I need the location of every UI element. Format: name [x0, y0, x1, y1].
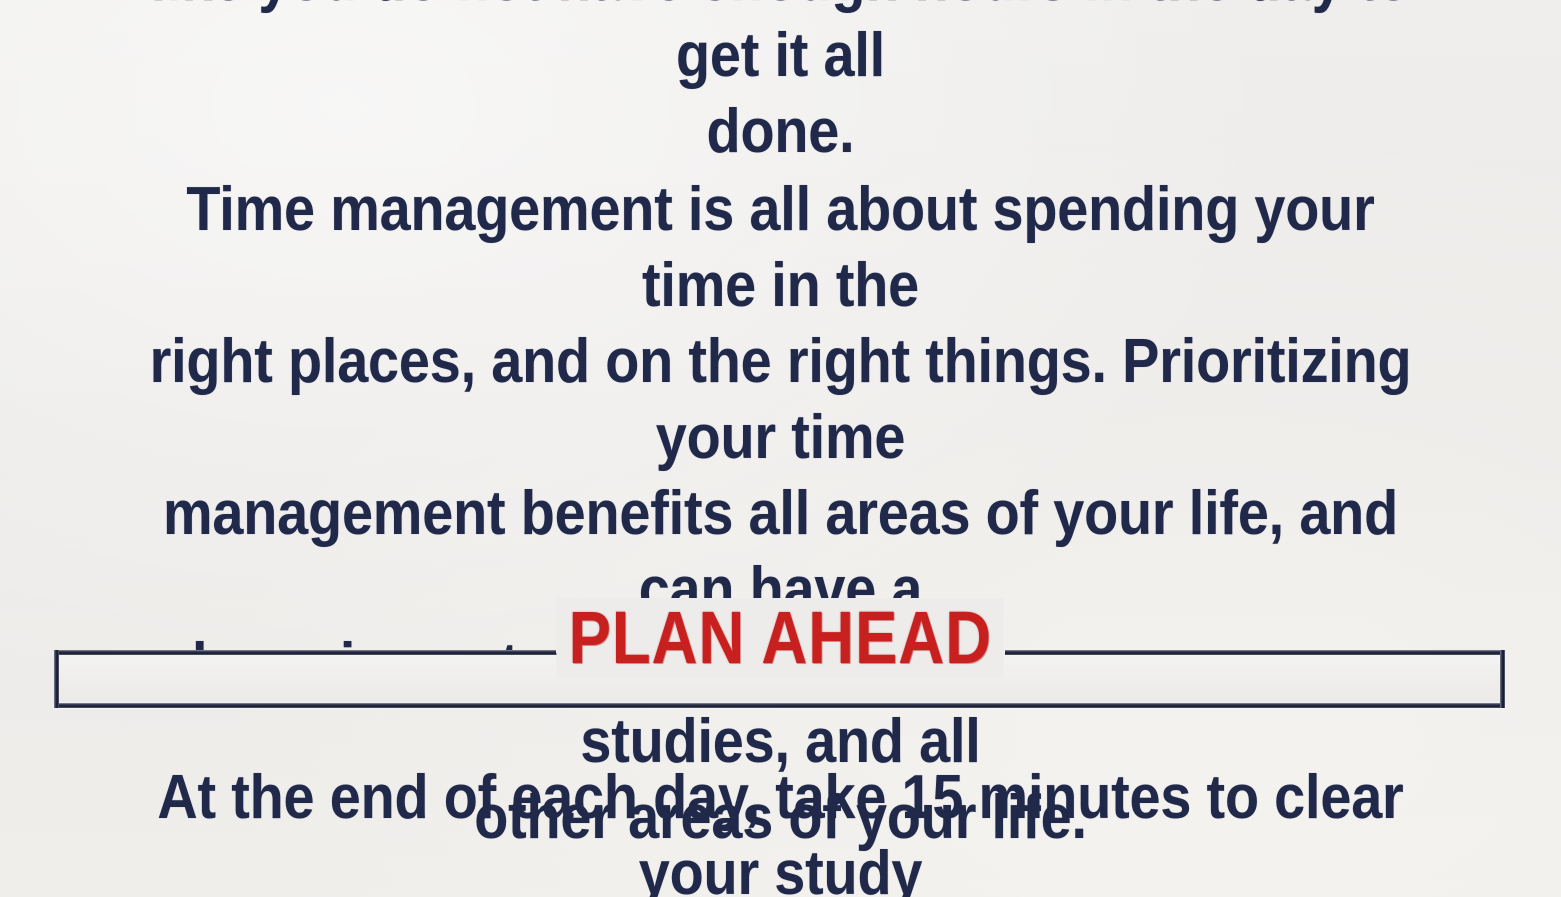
main-paragraph: Time management is all about spending yo… — [123, 172, 1438, 856]
frame-border-left — [54, 650, 59, 708]
section-paragraph: At the end of each day, take 15 minutes … — [123, 760, 1438, 897]
intro-paragraph: like you do not have enough hours in the… — [123, 0, 1438, 170]
frame-border-top-right — [1005, 650, 1505, 655]
section-divider-frame — [54, 650, 1505, 708]
infographic-poster: like you do not have enough hours in the… — [0, 0, 1561, 897]
frame-interior — [59, 655, 1500, 703]
frame-border-bottom — [54, 703, 1505, 708]
frame-border-top-left — [54, 650, 556, 655]
frame-border-right — [1500, 650, 1505, 708]
